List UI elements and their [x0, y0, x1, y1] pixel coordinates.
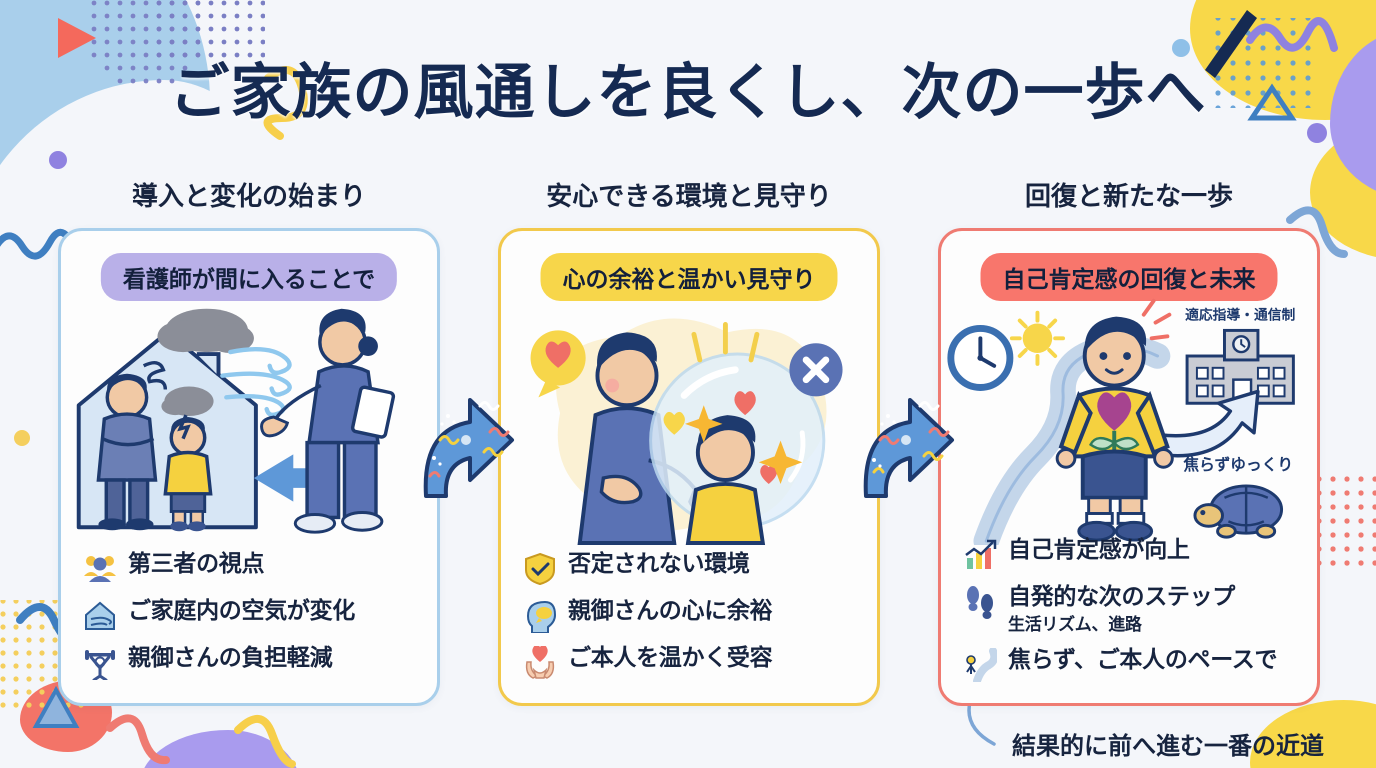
list-item-sublabel: 生活リズム、進路 [1008, 610, 1235, 635]
head-thought-icon [523, 599, 557, 633]
storm-cloud-icon [157, 309, 253, 353]
card-stage-2[interactable]: 心の余裕と温かい見守り [498, 228, 880, 706]
house-airflow-icon [83, 599, 117, 633]
list-item-label: ご本人を温かく受容 [568, 645, 772, 671]
winding-path-icon [963, 648, 997, 682]
school-building-icon [1187, 330, 1293, 403]
list-item-label: ご家庭内の空気が変化 [128, 598, 355, 624]
connector-arrow-1 [418, 380, 518, 500]
list-item[interactable]: 自己肯定感が向上 [963, 537, 1301, 572]
clock-icon [951, 328, 1010, 387]
list-item-label: 否定されない環境 [568, 551, 750, 577]
list-item-label: 第三者の視点 [128, 551, 264, 577]
child-figure [1057, 301, 1172, 540]
heart-hands-icon [523, 646, 557, 680]
card-stage-3[interactable]: 自己肯定感の回復と未来 [938, 228, 1320, 706]
school-label: 適応指導・通信制 [1185, 307, 1295, 323]
bullet-list-1: 第三者の視点 ご家庭内の空気が変化 [83, 551, 421, 692]
people-group-icon [83, 552, 117, 586]
list-item-label: 焦らず、ご本人のペースで [1008, 647, 1277, 673]
close-x-badge-icon [789, 343, 842, 396]
list-item[interactable]: 焦らず、ご本人のペースで [963, 647, 1301, 682]
chart-up-icon [963, 538, 997, 572]
list-item[interactable]: ご家庭内の空気が変化 [83, 598, 421, 633]
energy-marks-icon [1144, 301, 1170, 338]
footnote-text: 結果的に前へ進む一番の近道 [1012, 726, 1324, 761]
page-title: ご家族の風通しを良くし、次の一歩へ [0, 44, 1376, 131]
nurse-figure [262, 309, 395, 532]
list-item-label: 自発的な次のステップ [1008, 584, 1235, 610]
list-item[interactable]: 親御さんの心に余裕 [523, 598, 861, 633]
infographic-canvas: ご家族の風通しを良くし、次の一歩へ 導入と変化の始まり 安心できる環境と見守り … [0, 0, 1376, 768]
list-item-label: 自己肯定感が向上 [1008, 537, 1190, 563]
card-stage-1[interactable]: 看護師が間に入ることで [58, 228, 440, 706]
list-item-label: 親御さんの負担軽減 [128, 645, 332, 671]
sun-icon [1012, 313, 1063, 364]
list-item[interactable]: 否定されない環境 [523, 551, 861, 586]
illustration-parent-accepting-child [501, 293, 877, 545]
list-item[interactable]: 自発的な次のステップ 生活リズム、進路 [963, 584, 1301, 635]
illustration-nurse-entering-home [61, 293, 437, 545]
turtle-label: 焦らずゆっくり [1182, 455, 1293, 474]
column-heading-2: 安心できる環境と見守り [498, 176, 880, 213]
turtle-icon [1195, 486, 1282, 537]
column-heading-1: 導入と変化の始まり [58, 176, 440, 213]
bullet-list-3: 自己肯定感が向上 自発的な次のステップ 生活リズム、進路 [963, 537, 1301, 694]
shield-check-icon [523, 552, 557, 586]
column-heading-3: 回復と新たな一歩 [938, 176, 1320, 213]
list-item[interactable]: ご本人を温かく受容 [523, 645, 861, 680]
illustration-child-new-step: 適応指導・通信制 [941, 293, 1317, 545]
footprints-icon [963, 585, 997, 619]
bullet-list-2: 否定されない環境 親御さんの心に余裕 ご本人を温かく受容 [523, 551, 861, 692]
connector-arrow-2 [858, 380, 958, 500]
list-item[interactable]: 親御さんの負担軽減 [83, 645, 421, 680]
person-lifting-icon [83, 646, 117, 680]
decor-blob-purple-bottomleft [140, 730, 300, 768]
list-item-label: 親御さんの心に余裕 [568, 598, 772, 624]
list-item[interactable]: 第三者の視点 [83, 551, 421, 586]
